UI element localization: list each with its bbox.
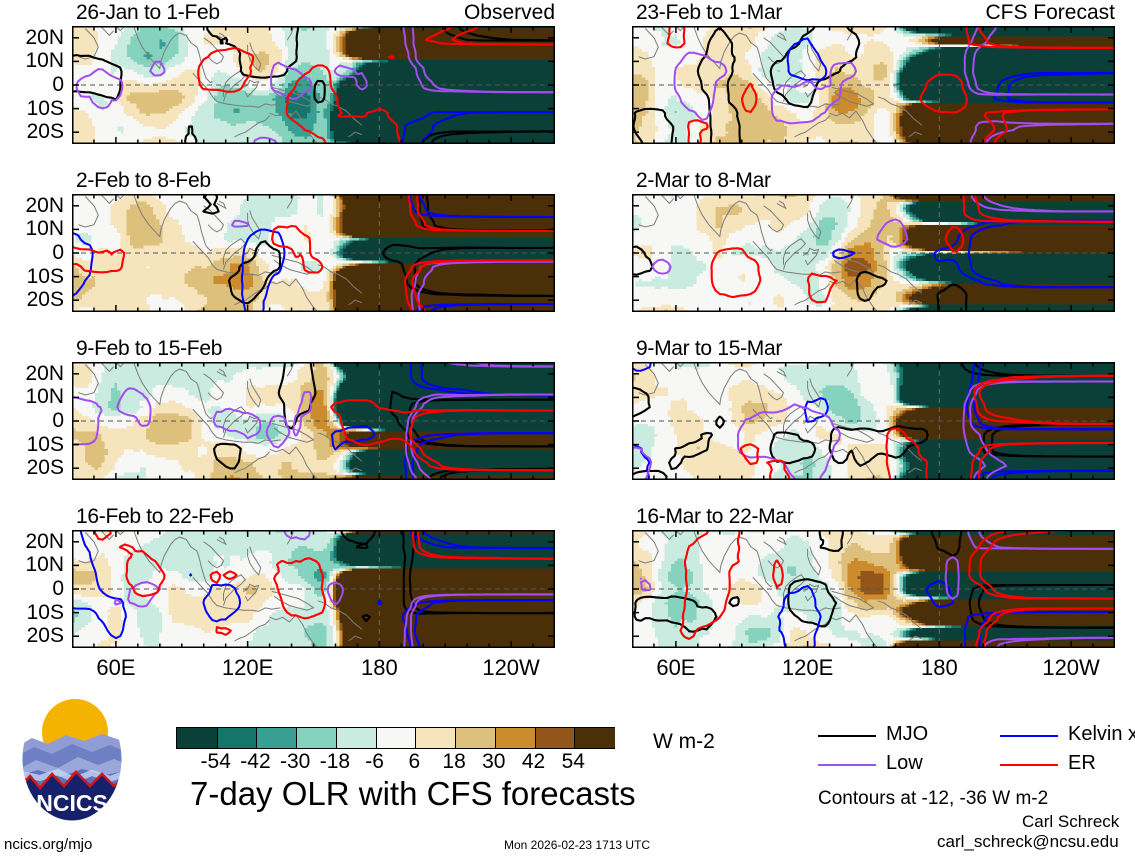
legend-line-kelvin-x2 bbox=[1000, 735, 1058, 737]
x-tick-label: 60E bbox=[82, 655, 150, 681]
column-header: Observed bbox=[464, 1, 555, 25]
x-tick-label: 120W bbox=[477, 655, 545, 681]
x-tick-label: 180 bbox=[345, 655, 413, 681]
x-tick-label: 180 bbox=[905, 655, 973, 681]
x-tick-label: 60E bbox=[642, 655, 710, 681]
map-panel-fcst-1: 23-Feb to 1-MarCFS Forecast bbox=[632, 26, 1115, 144]
y-tick-label: 0 bbox=[0, 74, 64, 95]
ncics-logo: NCICS bbox=[18, 694, 126, 824]
colorbar bbox=[176, 727, 615, 749]
y-tick-label: 10N bbox=[0, 386, 64, 407]
colorbar-segment bbox=[376, 728, 417, 748]
site-url: ncics.org/mjo bbox=[4, 836, 92, 853]
colorbar-tick-label: 54 bbox=[545, 750, 601, 774]
colorbar-segment bbox=[336, 728, 377, 748]
map-panel-obs-3: 9-Feb to 15-Feb bbox=[72, 362, 555, 480]
y-tick-label: 0 bbox=[0, 578, 64, 599]
colorbar-segment bbox=[535, 728, 576, 748]
olr-field bbox=[632, 26, 1115, 144]
colorbar-unit-label: W m-2 bbox=[653, 730, 715, 754]
colorbar-segment bbox=[177, 728, 217, 748]
legend-label: ER bbox=[1068, 752, 1096, 775]
panel-title: 16-Feb to 22-Feb bbox=[76, 505, 233, 529]
y-tick-label: 0 bbox=[0, 410, 64, 431]
y-tick-label: 20N bbox=[0, 27, 64, 48]
timestamp: Mon 2026-02-23 1713 UTC bbox=[504, 838, 650, 852]
y-tick-label: 20N bbox=[0, 531, 64, 552]
legend-line-mjo bbox=[818, 735, 876, 737]
y-tick-label: 10N bbox=[0, 554, 64, 575]
panel-title: 23-Feb to 1-Mar bbox=[636, 1, 782, 25]
x-tick-label: 120E bbox=[774, 655, 842, 681]
colorbar-segment bbox=[256, 728, 297, 748]
map-panel-fcst-2: 2-Mar to 8-Mar bbox=[632, 194, 1115, 312]
y-tick-label: 20N bbox=[0, 363, 64, 384]
olr-field bbox=[72, 194, 555, 312]
y-tick-label: 20S bbox=[0, 289, 64, 310]
olr-field bbox=[72, 26, 555, 144]
y-tick-label: 10N bbox=[0, 218, 64, 239]
olr-field bbox=[72, 362, 555, 480]
colorbar-segment bbox=[296, 728, 337, 748]
panel-title: 2-Mar to 8-Mar bbox=[636, 169, 771, 193]
main-title: 7-day OLR with CFS forecasts bbox=[190, 775, 636, 813]
y-tick-label: 20N bbox=[0, 195, 64, 216]
y-tick-label: 0 bbox=[0, 242, 64, 263]
y-tick-label: 10N bbox=[0, 50, 64, 71]
panel-title: 16-Mar to 22-Mar bbox=[636, 505, 793, 529]
y-tick-label: 10S bbox=[0, 266, 64, 287]
map-panel-fcst-3: 9-Mar to 15-Mar bbox=[632, 362, 1115, 480]
olr-field bbox=[632, 530, 1115, 648]
legend-label: Kelvin x2 bbox=[1068, 723, 1135, 746]
olr-field bbox=[72, 530, 555, 648]
map-panel-obs-1: 26-Jan to 1-FebObserved bbox=[72, 26, 555, 144]
colorbar-segment bbox=[415, 728, 456, 748]
map-panel-obs-4: 16-Feb to 22-Feb bbox=[72, 530, 555, 648]
contour-note: Contours at -12, -36 W m-2 bbox=[818, 788, 1048, 810]
legend-line-low bbox=[818, 764, 876, 766]
panel-title: 26-Jan to 1-Feb bbox=[76, 1, 220, 25]
legend-line-er bbox=[1000, 764, 1058, 766]
y-tick-label: 20S bbox=[0, 121, 64, 142]
colorbar-segment bbox=[455, 728, 496, 748]
panel-title: 2-Feb to 8-Feb bbox=[76, 169, 211, 193]
logo-text: NCICS bbox=[36, 790, 108, 816]
panel-title: 9-Feb to 15-Feb bbox=[76, 337, 222, 361]
y-tick-label: 10S bbox=[0, 98, 64, 119]
y-tick-label: 10S bbox=[0, 602, 64, 623]
y-tick-label: 20S bbox=[0, 457, 64, 478]
x-tick-label: 120W bbox=[1037, 655, 1105, 681]
panel-title: 9-Mar to 15-Mar bbox=[636, 337, 782, 361]
colorbar-segment bbox=[495, 728, 536, 748]
colorbar-segment bbox=[574, 728, 615, 748]
y-tick-label: 20S bbox=[0, 625, 64, 646]
x-tick-label: 120E bbox=[214, 655, 282, 681]
legend-label: MJO bbox=[886, 723, 928, 746]
y-tick-label: 10S bbox=[0, 434, 64, 455]
author-name: Carl Schreck bbox=[1022, 812, 1119, 832]
map-panel-fcst-4: 16-Mar to 22-Mar bbox=[632, 530, 1115, 648]
author-email: carl_schreck@ncsu.edu bbox=[937, 832, 1119, 852]
map-panel-obs-2: 2-Feb to 8-Feb bbox=[72, 194, 555, 312]
olr-field bbox=[632, 362, 1115, 480]
colorbar-segment bbox=[217, 728, 258, 748]
column-header: CFS Forecast bbox=[985, 1, 1115, 25]
legend-label: Low bbox=[886, 752, 923, 775]
olr-field bbox=[632, 194, 1115, 312]
